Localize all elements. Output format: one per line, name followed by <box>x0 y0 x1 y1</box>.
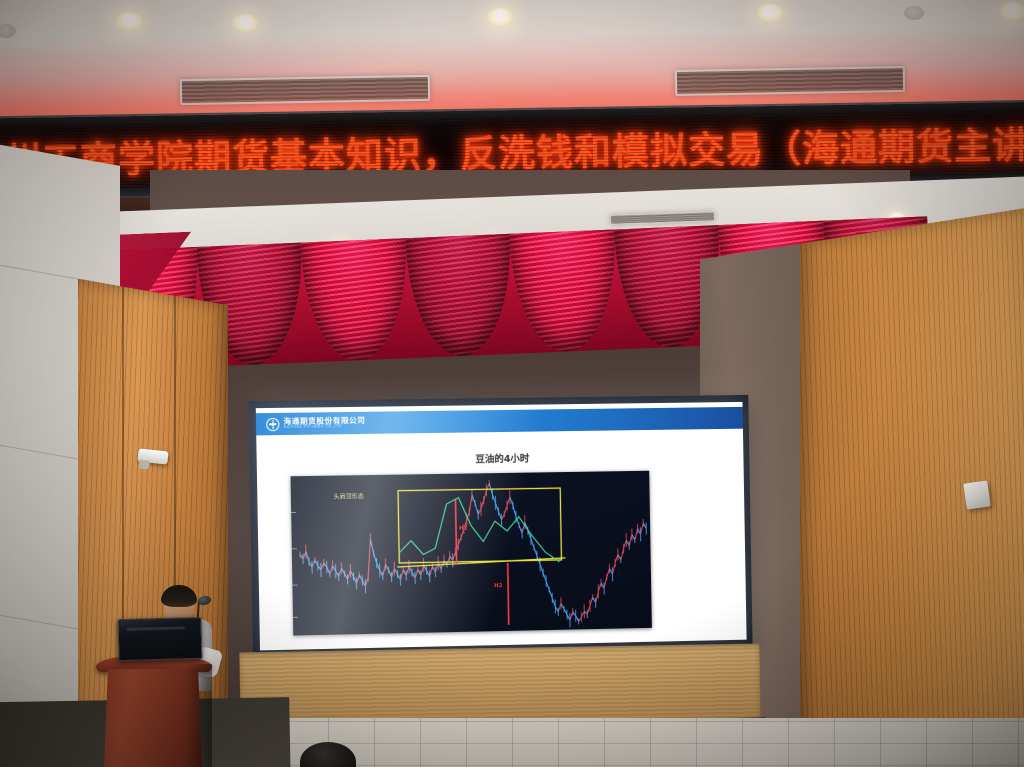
ceiling-vent-2 <box>675 66 905 96</box>
pattern-label: 头肩顶形态 <box>333 491 364 501</box>
ceiling-vent-1 <box>180 75 430 105</box>
company-name-en: HAITONG FUTURES CO.,LTD <box>284 425 366 430</box>
slide-title: 豆油的4小时 <box>257 447 744 468</box>
laptop <box>117 617 202 661</box>
haitong-logo-icon <box>266 417 279 430</box>
slide-header-band: 海通期货股份有限公司 HAITONG FUTURES CO.,LTD <box>256 407 743 436</box>
curtain-swag <box>405 234 514 358</box>
ceiling-downlight-1 <box>116 12 142 30</box>
curtain-swag <box>510 229 619 353</box>
ceiling-downlight-3 <box>487 8 513 26</box>
company-logo-text: 海通期货股份有限公司 HAITONG FUTURES CO.,LTD <box>283 417 365 429</box>
lecture-hall-photo: 广州工商学院期货基本知识，反洗钱和模拟交易（海通期货主讲） <box>0 0 1024 767</box>
wall-speaker-icon <box>963 480 990 509</box>
h2-measure-line <box>508 563 509 625</box>
smoke-detector-2 <box>904 6 924 20</box>
curtain-swag <box>301 238 410 362</box>
price-series <box>299 478 648 633</box>
pattern-outline <box>398 496 559 565</box>
chart-y-ticks <box>291 512 298 617</box>
cctv-camera-icon <box>137 448 168 464</box>
candlestick-chart: 头肩顶形态 H1 H2 <box>291 471 652 636</box>
ceiling-downlight-4 <box>757 4 783 22</box>
h1-measure-line <box>456 500 457 564</box>
presentation-slide: 海通期货股份有限公司 HAITONG FUTURES CO.,LTD 豆油的4小… <box>256 402 747 650</box>
h2-label: H2 <box>494 583 503 589</box>
right-wall-wood-panel <box>800 196 1024 767</box>
h1-label: H1 <box>459 526 468 532</box>
projection-screen: 海通期货股份有限公司 HAITONG FUTURES CO.,LTD 豆油的4小… <box>256 402 747 650</box>
ceiling-downlight-2 <box>232 14 258 32</box>
projection-screen-frame: 海通期货股份有限公司 HAITONG FUTURES CO.,LTD 豆油的4小… <box>249 395 753 657</box>
podium-shadow <box>186 664 212 767</box>
presenter-hair <box>161 585 197 607</box>
ceiling-downlight-5 <box>1000 2 1024 20</box>
